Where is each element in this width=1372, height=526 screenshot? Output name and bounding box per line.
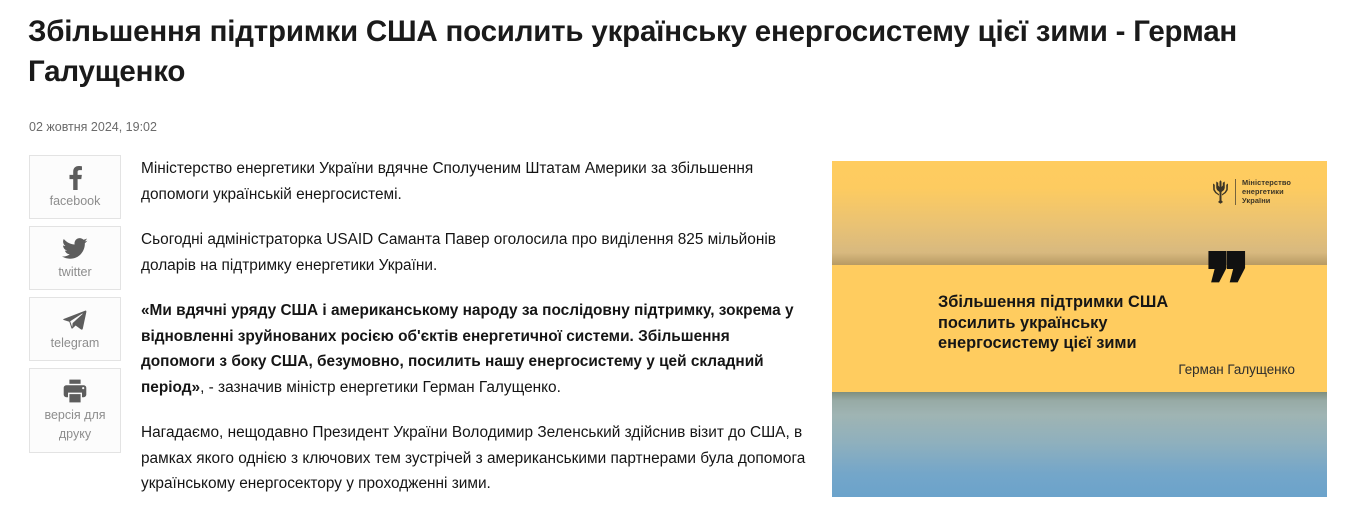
share-button-facebook[interactable]: facebook	[29, 155, 121, 219]
ministry-logo-text: Міністерство енергетики України	[1242, 178, 1291, 206]
promo-image-card: Міністерство енергетики України ❞ Збільш…	[832, 161, 1327, 497]
share-button-twitter[interactable]: twitter	[29, 226, 121, 290]
quote-attribution: , - зазначив міністр енергетики Герман Г…	[200, 379, 561, 396]
printer-icon	[34, 378, 116, 404]
ukraine-trident-icon	[1212, 180, 1229, 204]
facebook-icon	[34, 165, 116, 191]
article-paragraph: Сьогодні адміністраторка USAID Саманта П…	[141, 227, 806, 278]
page-title: Збільшення підтримки США посилить україн…	[28, 12, 1328, 92]
share-label: facebook	[34, 193, 116, 210]
share-label: версія для друку	[34, 406, 116, 444]
article-paragraph: Міністерство енергетики України вдячне С…	[141, 156, 806, 207]
article-body: Міністерство енергетики України вдячне С…	[141, 156, 806, 517]
share-label: telegram	[34, 335, 116, 352]
telegram-icon	[34, 307, 116, 333]
publish-date: 02 жовтня 2024, 19:02	[29, 119, 157, 135]
article-page: Збільшення підтримки США посилить україн…	[0, 0, 1372, 526]
promo-author: Герман Галущенко	[1178, 361, 1295, 379]
share-rail: facebook twitter telegram	[29, 155, 121, 460]
ministry-logo: Міністерство енергетики України	[1212, 178, 1291, 206]
share-label: twitter	[34, 264, 116, 281]
article-quote-paragraph: «Ми вдячні уряду США і американському на…	[141, 298, 806, 400]
article-paragraph: Нагадаємо, нещодавно Президент України В…	[141, 420, 806, 497]
logo-divider	[1235, 179, 1236, 205]
promo-headline: Збільшення підтримки США посилить україн…	[938, 292, 1308, 354]
share-button-telegram[interactable]: telegram	[29, 297, 121, 361]
share-button-print[interactable]: версія для друку	[29, 368, 121, 453]
promo-band-bottom	[832, 392, 1327, 497]
twitter-icon	[34, 236, 116, 262]
promo-band-top	[832, 161, 1327, 265]
